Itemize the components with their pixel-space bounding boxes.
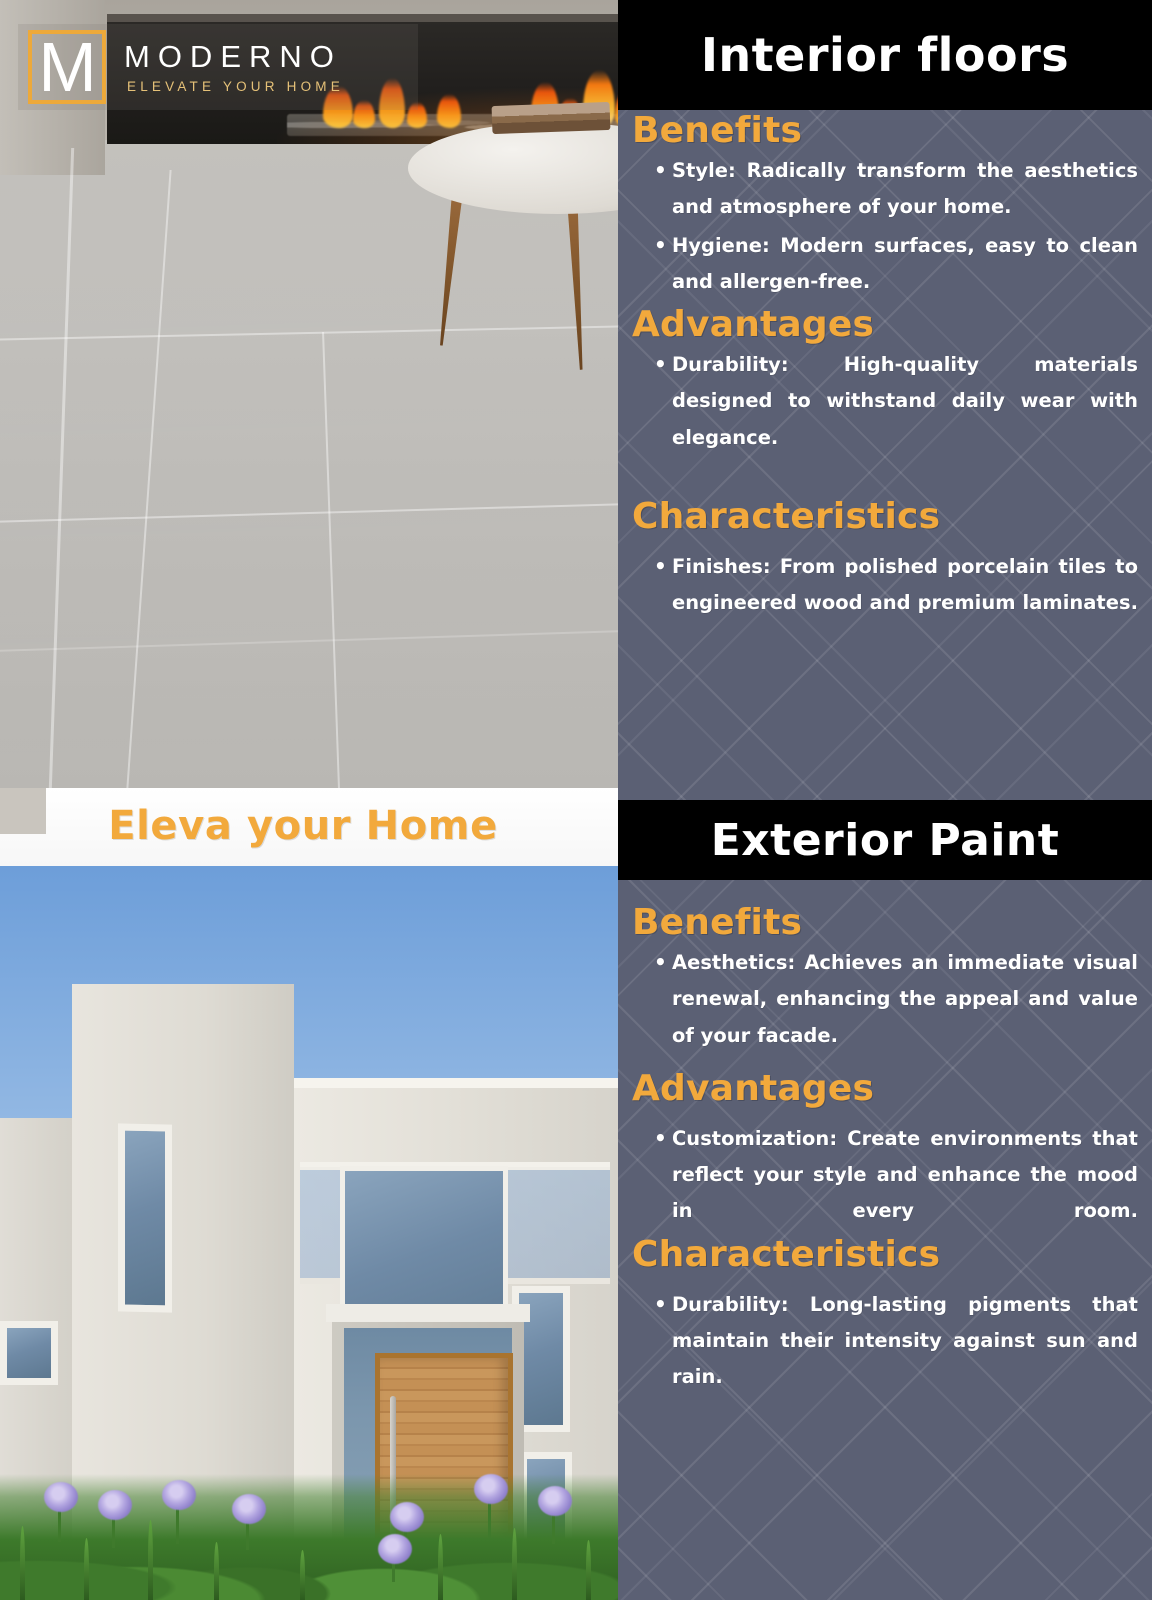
grass-blade bbox=[512, 1528, 517, 1600]
exterior-house-photo bbox=[0, 866, 618, 1600]
grass-blade bbox=[148, 1520, 153, 1600]
entry-canopy bbox=[326, 1304, 530, 1322]
window-small-left bbox=[0, 1321, 58, 1385]
poster-canvas: M MODERNO ELEVATE YOUR HOME Eleva your H… bbox=[0, 0, 1152, 1600]
bullet-list-characteristics: Finishes: From polished porcelain tiles … bbox=[618, 549, 1152, 622]
grass-blade bbox=[20, 1526, 25, 1600]
tile-grout-line bbox=[126, 170, 171, 788]
brand-tagline: ELEVATE YOUR HOME bbox=[124, 79, 344, 94]
logo-square-frame-icon: M bbox=[28, 30, 106, 104]
bullet-list-advantages: Durability: High-quality materials desig… bbox=[618, 347, 1152, 456]
grass-blade bbox=[300, 1550, 305, 1600]
table-leg bbox=[566, 190, 586, 370]
logo-letter: M bbox=[38, 32, 95, 102]
list-item: Hygiene: Modern surfaces, easy to clean … bbox=[654, 228, 1138, 301]
tile-grout-line bbox=[0, 326, 618, 341]
section-header-interior-floors: Interior floors bbox=[618, 0, 1152, 110]
spacer bbox=[618, 1277, 1152, 1287]
bullet-list-advantages: Customization: Create environments that … bbox=[618, 1121, 1152, 1230]
section-title: Exterior Paint bbox=[711, 815, 1060, 866]
section-body-interior-floors: Benefits Style: Radically transform the … bbox=[618, 110, 1152, 800]
grass-blade bbox=[214, 1542, 219, 1600]
spacer bbox=[618, 460, 1152, 496]
agapanthus-bloom bbox=[390, 1502, 424, 1532]
brand-name: MODERNO bbox=[124, 40, 344, 74]
window-tall bbox=[118, 1123, 172, 1312]
grass-blade bbox=[438, 1534, 443, 1600]
garden-foliage bbox=[0, 1474, 618, 1600]
agapanthus-bloom bbox=[378, 1534, 412, 1564]
banner-corner-block bbox=[0, 788, 46, 834]
brand-logo: M MODERNO ELEVATE YOUR HOME bbox=[18, 24, 418, 110]
subheading-advantages: Advantages bbox=[618, 304, 1152, 345]
bullet-list-benefits: Aesthetics: Achieves an immediate visual… bbox=[618, 945, 1152, 1054]
agapanthus-bloom bbox=[538, 1486, 572, 1516]
list-item: Durability: High-quality materials desig… bbox=[654, 347, 1138, 456]
right-content-column: Interior floors Benefits Style: Radicall… bbox=[618, 0, 1152, 1600]
subheading-benefits: Benefits bbox=[618, 110, 1152, 151]
spacer bbox=[618, 1111, 1152, 1121]
spacer bbox=[618, 1058, 1152, 1068]
agapanthus-bloom bbox=[162, 1480, 196, 1510]
subheading-characteristics: Characteristics bbox=[618, 1234, 1152, 1275]
tile-grout-line bbox=[49, 148, 74, 788]
list-item: Style: Radically transform the aesthetic… bbox=[654, 153, 1138, 226]
section-header-exterior-paint: Exterior Paint bbox=[618, 800, 1152, 880]
subheading-characteristics: Characteristics bbox=[618, 496, 1152, 537]
eleva-banner: Eleva your Home bbox=[0, 788, 618, 866]
interior-floor-photo: M MODERNO ELEVATE YOUR HOME bbox=[0, 0, 618, 788]
agapanthus-bloom bbox=[44, 1482, 78, 1512]
list-item: Durability: Long-lasting pigments that m… bbox=[654, 1287, 1138, 1396]
bullet-list-characteristics: Durability: Long-lasting pigments that m… bbox=[618, 1287, 1152, 1396]
agapanthus-bloom bbox=[474, 1474, 508, 1504]
list-item: Aesthetics: Achieves an immediate visual… bbox=[654, 945, 1138, 1054]
section-title: Interior floors bbox=[701, 28, 1069, 82]
tile-grout-line bbox=[0, 630, 618, 651]
eleva-banner-text: Eleva your Home bbox=[108, 803, 498, 849]
spacer bbox=[618, 539, 1152, 549]
spacer bbox=[618, 880, 1152, 902]
list-item: Finishes: From polished porcelain tiles … bbox=[654, 549, 1138, 622]
section-body-exterior-paint: Benefits Aesthetics: Achieves an immedia… bbox=[618, 880, 1152, 1600]
subheading-benefits: Benefits bbox=[618, 902, 1152, 943]
bullet-list-benefits: Style: Radically transform the aesthetic… bbox=[618, 153, 1152, 300]
stacked-books bbox=[492, 102, 611, 134]
grass-blade bbox=[84, 1538, 89, 1600]
agapanthus-bloom bbox=[98, 1490, 132, 1520]
tile-grout-line bbox=[322, 332, 340, 788]
grass-blade bbox=[586, 1540, 591, 1600]
logo-wordmark: MODERNO ELEVATE YOUR HOME bbox=[124, 40, 344, 93]
agapanthus-bloom bbox=[232, 1494, 266, 1524]
subheading-advantages: Advantages bbox=[618, 1068, 1152, 1109]
left-image-column: M MODERNO ELEVATE YOUR HOME Eleva your H… bbox=[0, 0, 618, 1600]
table-leg bbox=[436, 190, 463, 346]
tile-grout-line bbox=[0, 503, 618, 522]
list-item: Customization: Create environments that … bbox=[654, 1121, 1138, 1230]
